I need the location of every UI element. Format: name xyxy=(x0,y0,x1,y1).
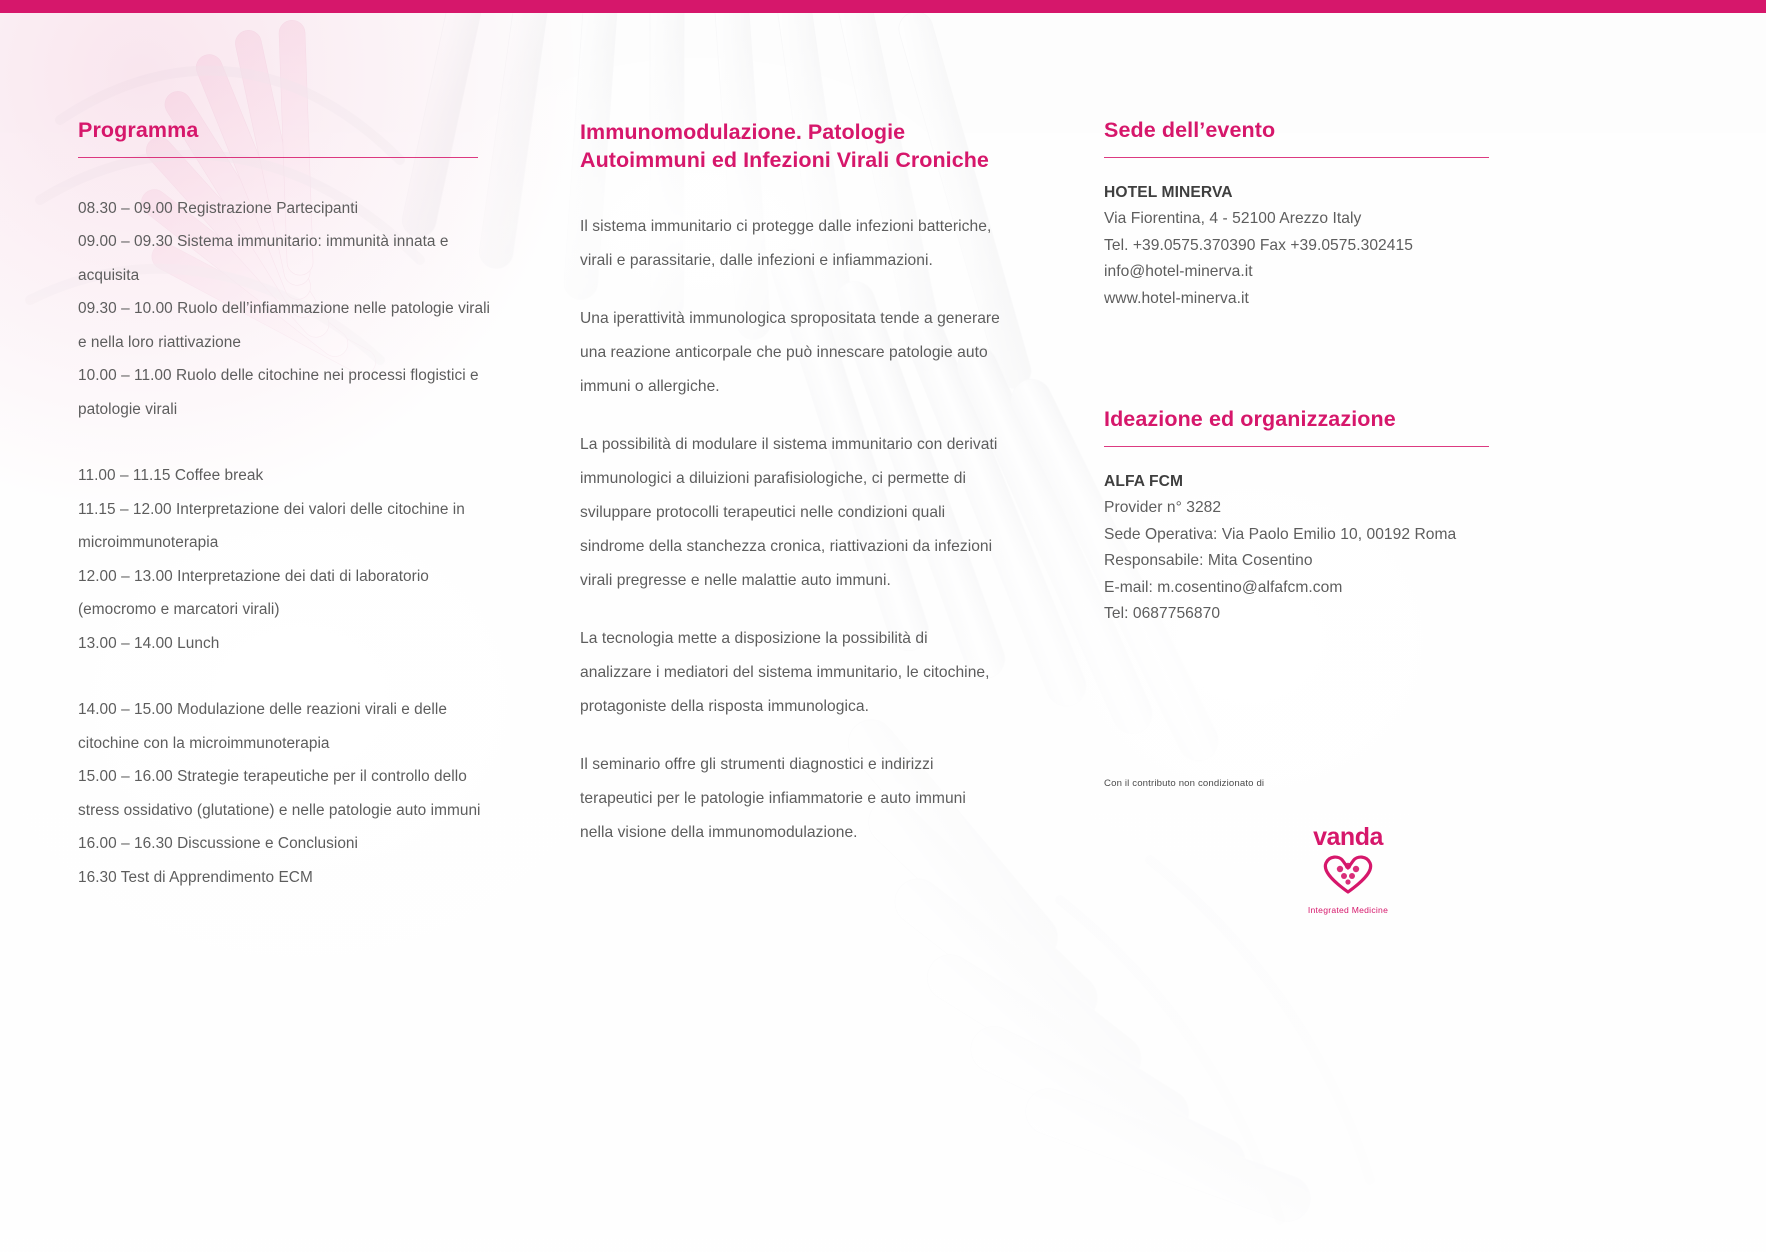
programme-spacer xyxy=(78,426,498,459)
programme-title: Programma xyxy=(78,118,498,143)
sponsor-logo-tagline: Integrated Medicine xyxy=(1308,905,1388,915)
venue-phone: Tel. +39.0575.370390 Fax +39.0575.302415 xyxy=(1104,233,1504,260)
programme-item: 12.00 – 13.00 Interpretazione dei dati d… xyxy=(78,560,498,594)
programme-item: 11.15 – 12.00 Interpretazione dei valori… xyxy=(78,493,498,527)
description-paragraph: Il sistema immunitario ci protegge dalle… xyxy=(580,210,1000,278)
description-paragraphs: Il sistema immunitario ci protegge dalle… xyxy=(580,210,1000,850)
organizer-name: ALFA FCM xyxy=(1104,469,1504,496)
programme-item: acquisita xyxy=(78,259,498,293)
programme-item: (emocromo e marcatori virali) xyxy=(78,593,498,627)
programme-spacer xyxy=(78,660,498,693)
venue-email[interactable]: info@hotel-minerva.it xyxy=(1104,259,1504,286)
organizer-phone: Tel: 0687756870 xyxy=(1104,601,1504,628)
programme-item: microimmunoterapia xyxy=(78,526,498,560)
sponsor-section: Con il contributo non condizionato di va… xyxy=(1104,778,1504,915)
programme-item: e nella loro riattivazione xyxy=(78,326,498,360)
venue-website[interactable]: www.hotel-minerva.it xyxy=(1104,286,1504,313)
organizer-details: ALFA FCM Provider n° 3282 Sede Operativa… xyxy=(1104,469,1504,628)
programme-item: 08.30 – 09.00 Registrazione Partecipanti xyxy=(78,192,498,226)
programme-item: stress ossidativo (glutatione) e nelle p… xyxy=(78,794,498,828)
programme-list: 08.30 – 09.00 Registrazione Partecipanti… xyxy=(78,192,498,895)
sponsor-logo-wordmark: vanda xyxy=(1313,825,1383,850)
document-title: Immunomodulazione. Patologie Autoimmuni … xyxy=(580,118,1000,174)
sponsor-note: Con il contributo non condizionato di xyxy=(1104,778,1504,789)
info-block-spacer xyxy=(1104,312,1504,407)
organizer-divider xyxy=(1104,446,1489,447)
description-paragraph: Una iperattività immunologica sproposita… xyxy=(580,302,1000,404)
programme-item: 09.00 – 09.30 Sistema immunitario: immun… xyxy=(78,225,498,259)
programme-item: patologie virali xyxy=(78,393,498,427)
description-paragraph: Il seminario offre gli strumenti diagnos… xyxy=(580,748,1000,850)
vanda-heart-logo-icon xyxy=(1320,852,1376,899)
programme-divider xyxy=(78,157,478,158)
organizer-email[interactable]: E-mail: m.cosentino@alfafcm.com xyxy=(1104,575,1504,602)
programme-item: 16.30 Test di Apprendimento ECM xyxy=(78,861,498,895)
brochure-page: Programma 08.30 – 09.00 Registrazione Pa… xyxy=(0,0,1766,1252)
description-column: Immunomodulazione. Patologie Autoimmuni … xyxy=(580,118,1000,874)
info-column: Sede dell’evento HOTEL MINERVA Via Fiore… xyxy=(1104,118,1504,628)
venue-details: HOTEL MINERVA Via Fiorentina, 4 - 52100 … xyxy=(1104,180,1504,313)
organizer-title: Ideazione ed organizzazione xyxy=(1104,407,1504,432)
venue-divider xyxy=(1104,157,1489,158)
venue-name: HOTEL MINERVA xyxy=(1104,180,1504,207)
programme-item: 13.00 – 14.00 Lunch xyxy=(78,627,498,661)
programme-item: 15.00 – 16.00 Strategie terapeutiche per… xyxy=(78,760,498,794)
organizer-contact-person: Responsabile: Mita Cosentino xyxy=(1104,548,1504,575)
programme-item: 14.00 – 15.00 Modulazione delle reazioni… xyxy=(78,693,498,727)
programme-item: 11.00 – 11.15 Coffee break xyxy=(78,459,498,493)
description-paragraph: La tecnologia mette a disposizione la po… xyxy=(580,622,1000,724)
description-paragraph: La possibilità di modulare il sistema im… xyxy=(580,428,1000,598)
programme-column: Programma 08.30 – 09.00 Registrazione Pa… xyxy=(78,118,498,910)
programme-item: 10.00 – 11.00 Ruolo delle citochine nei … xyxy=(78,359,498,393)
venue-title: Sede dell’evento xyxy=(1104,118,1504,143)
organizer-provider: Provider n° 3282 xyxy=(1104,495,1504,522)
sponsor-logo: vanda Integrated Medici xyxy=(1104,825,1504,915)
top-accent-bar xyxy=(0,0,1766,13)
organizer-address: Sede Operativa: Via Paolo Emilio 10, 001… xyxy=(1104,522,1504,549)
programme-item: 16.00 – 16.30 Discussione e Conclusioni xyxy=(78,827,498,861)
programme-item: citochine con la microimmunoterapia xyxy=(78,727,498,761)
venue-address: Via Fiorentina, 4 - 52100 Arezzo Italy xyxy=(1104,206,1504,233)
programme-item: 09.30 – 10.00 Ruolo dell’infiammazione n… xyxy=(78,292,498,326)
page-content: Programma 08.30 – 09.00 Registrazione Pa… xyxy=(0,0,1766,1252)
